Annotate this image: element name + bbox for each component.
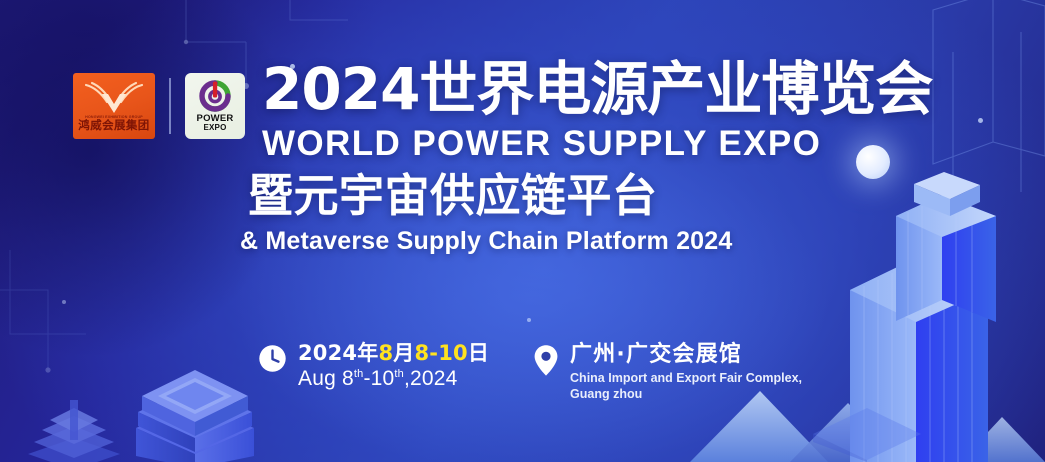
- accent-dot: [527, 318, 531, 322]
- event-date-text: 2024年8月8-10日 Aug 8th-10th,2024: [298, 342, 489, 391]
- location-pin-icon: [533, 344, 559, 377]
- event-banner: HONGWEI EXHIBITION GROUP 鸿威会展集团 POWER EX…: [0, 0, 1045, 462]
- hongwei-logo-cn: 鸿威会展集团: [78, 120, 149, 132]
- clock-icon: [258, 344, 287, 373]
- event-location-text: 广州·广交会展馆 China Import and Export Fair Co…: [570, 342, 820, 403]
- wings-mark-icon: [82, 80, 146, 114]
- hongwei-exhibition-group-logo[interactable]: HONGWEI EXHIBITION GROUP 鸿威会展集团: [73, 73, 155, 139]
- power-expo-logo[interactable]: POWER EXPO: [185, 73, 245, 139]
- event-date-en: Aug 8th-10th,2024: [298, 367, 489, 391]
- event-date-item: 2024年8月8-10日 Aug 8th-10th,2024: [258, 342, 489, 391]
- event-date-cn: 2024年8月8-10日: [298, 342, 489, 366]
- event-title-en: WORLD POWER SUPPLY EXPO: [262, 124, 962, 163]
- logo-group: HONGWEI EXHIBITION GROUP 鸿威会展集团 POWER EX…: [73, 73, 245, 139]
- event-subtitle-en: & Metaverse Supply Chain Platform 2024: [240, 227, 962, 256]
- event-location-en: China Import and Export Fair Complex, Gu…: [570, 370, 820, 403]
- logo-divider: [169, 78, 171, 134]
- event-subtitle-cn: 暨元宇宙供应链平台: [248, 171, 962, 221]
- event-location-cn: 广州·广交会展馆: [570, 342, 820, 367]
- event-title-cn: 2024世界电源产业博览会: [262, 58, 962, 121]
- headline-block: 2024世界电源产业博览会 WORLD POWER SUPPLY EXPO 暨元…: [262, 58, 962, 256]
- accent-dot: [978, 118, 983, 123]
- circuit-lines-bottom-left: [0, 250, 230, 460]
- power-expo-line2: EXPO: [203, 124, 226, 132]
- isometric-tree: [20, 384, 128, 462]
- isometric-stack-block: [132, 356, 258, 462]
- power-button-swirl-icon: [195, 80, 235, 113]
- accent-dot: [62, 300, 66, 304]
- event-info-row: 2024年8月8-10日 Aug 8th-10th,2024 广州·广交会展馆 …: [258, 342, 820, 403]
- event-location-item: 广州·广交会展馆 China Import and Export Fair Co…: [533, 342, 820, 403]
- isometric-block-right: [807, 382, 927, 462]
